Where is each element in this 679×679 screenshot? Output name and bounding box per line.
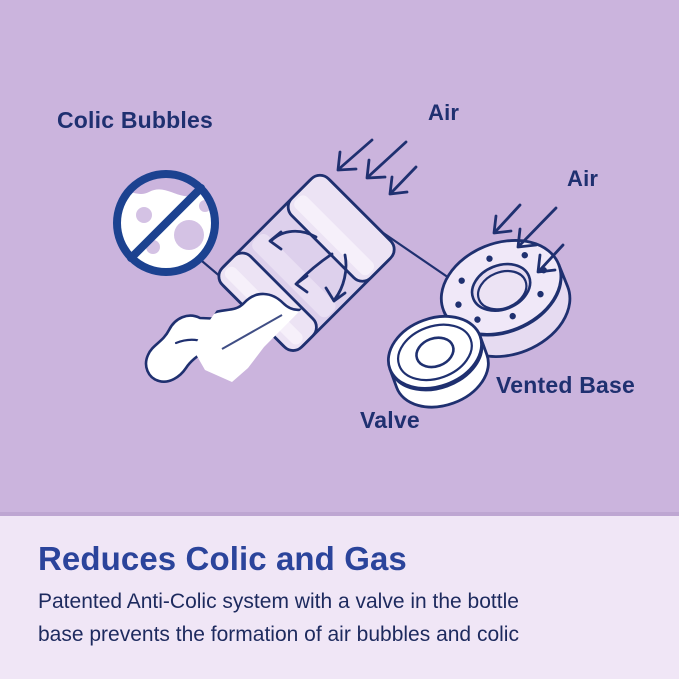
headline: Reduces Colic and Gas [38,540,407,578]
caption-panel: Reduces Colic and Gas Patented Anti-Coli… [0,516,679,679]
anti-colic-diagram [0,0,679,516]
diagram-panel: Colic Bubbles Air Air Valve Vented Base [0,0,679,516]
body-copy-line-2: base prevents the formation of air bubbl… [38,618,648,651]
bubble [136,207,152,223]
air-inflow-arrows-top [338,140,416,194]
label-air-right: Air [567,166,598,192]
body-copy: Patented Anti-Colic system with a valve … [38,585,648,651]
label-colic-bubbles: Colic Bubbles [57,107,213,134]
product-feature-graphic: Colic Bubbles Air Air Valve Vented Base … [0,0,679,679]
bubble [174,220,204,250]
label-valve: Valve [360,407,420,434]
label-vented-base: Vented Base [496,372,635,399]
no-colic-bubbles-icon [110,167,222,279]
body-copy-line-1: Patented Anti-Colic system with a valve … [38,585,648,618]
label-air-top: Air [428,100,459,126]
